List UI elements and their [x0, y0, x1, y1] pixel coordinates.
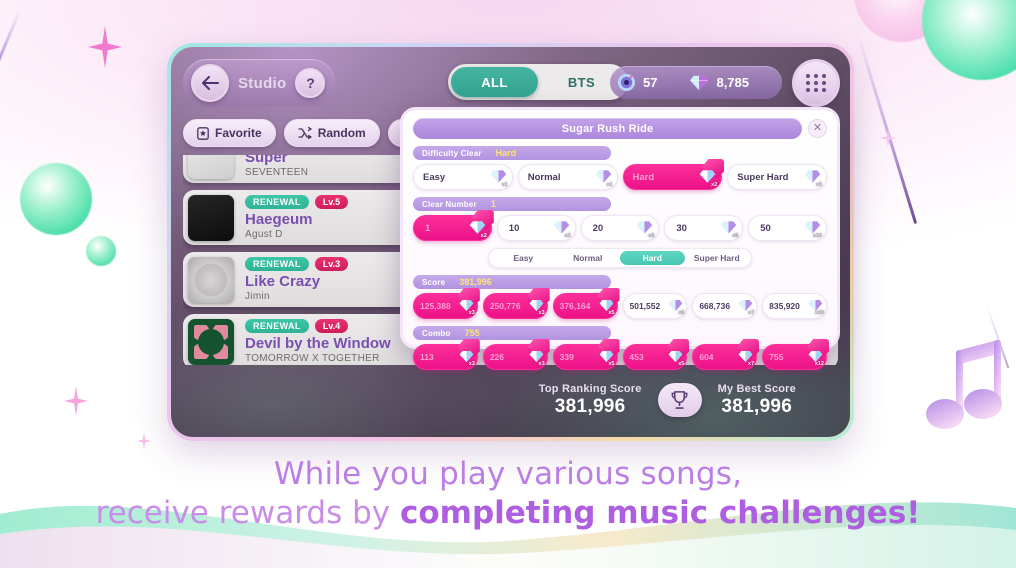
bookmark-star-icon [197, 127, 209, 140]
option-label: 339 [560, 352, 574, 362]
score-option-3[interactable]: 376,164 x5 [553, 293, 618, 319]
clear-number-option-1[interactable]: 1 x2 [413, 215, 492, 241]
gem-icon: x10 [804, 220, 821, 237]
filter-favorite-label: Favorite [215, 126, 262, 140]
multiplier-label: x3 [564, 233, 570, 239]
section-label: Combo [422, 329, 451, 338]
decorative-green-bubble-large [20, 163, 92, 235]
promo-headline-line2-plain: receive rewards by [96, 495, 400, 531]
combo-option-6[interactable]: 755 x12 [762, 344, 827, 370]
gem-icon: x5 [599, 350, 614, 365]
page-title: Studio [238, 75, 286, 92]
score-option-6[interactable]: 835,920 x10 [762, 293, 827, 319]
combo-option-4[interactable]: 453 x5 [623, 344, 688, 370]
difficulty-clear-options: Easy x1 Normal x1 Hard x2 Super Hard [413, 164, 827, 190]
difficulty-option-easy[interactable]: Easy x1 [413, 164, 513, 190]
sparkle-icon [880, 128, 896, 148]
decorative-streak [0, 9, 22, 89]
multiplier-label: x3 [539, 361, 545, 367]
gem-icon: x3 [459, 350, 474, 365]
promo-headline-line2: receive rewards by completing music chal… [0, 493, 1016, 533]
top-bar: Studio ? ALL BTS 57 [183, 59, 838, 107]
gem-icon: x10 [808, 299, 823, 314]
gem-icon: x3 [553, 220, 570, 237]
multiplier-label: x3 [539, 310, 545, 316]
promo-headline: While you play various songs, receive re… [0, 455, 1016, 533]
top-ranking-score-block: Top Ranking Score 381,996 [539, 383, 642, 418]
tab-all[interactable]: ALL [451, 67, 538, 97]
section-value: 381,996 [459, 277, 492, 287]
option-label: 226 [490, 352, 504, 362]
clear-number-options: 1 x2 10 x3 20 x5 30 x8 [413, 215, 827, 241]
score-option-2[interactable]: 250,776 x3 [483, 293, 548, 319]
section-value: Hard [496, 148, 517, 158]
option-label: 1 [425, 223, 430, 234]
multiplier-label: x10 [815, 310, 824, 316]
gem-icon [689, 75, 709, 91]
gem-icon: x5 [636, 220, 653, 237]
badge-renewal: RENEWAL [245, 257, 309, 271]
multiplier-label: x3 [816, 182, 822, 188]
album-cover [188, 155, 234, 179]
badge-renewal: RENEWAL [245, 195, 309, 209]
option-label: Super Hard [737, 172, 788, 183]
currency-disc-value: 57 [643, 75, 657, 90]
gem-icon: x5 [599, 299, 614, 314]
arrow-left-icon [202, 76, 219, 90]
help-button[interactable]: ? [295, 68, 325, 98]
clear-number-option-10[interactable]: 10 x3 [497, 215, 576, 241]
gem-icon: x7 [738, 350, 753, 365]
clear-number-option-50[interactable]: 50 x10 [748, 215, 827, 241]
gem-icon: x2 [699, 169, 716, 186]
option-label: 113 [420, 352, 434, 362]
album-cover [188, 319, 234, 365]
my-best-score-label: My Best Score [718, 383, 796, 395]
promo-headline-line1: While you play various songs, [0, 455, 1016, 493]
filter-random-label: Random [318, 126, 366, 140]
difficulty-option-super-hard[interactable]: Super Hard x3 [727, 164, 827, 190]
sparkle-icon [64, 386, 88, 416]
gem-icon: x12 [808, 350, 823, 365]
multiplier-label: x12 [815, 361, 824, 367]
multiplier-label: x5 [608, 310, 614, 316]
score-option-4[interactable]: 501,552 x5 [623, 293, 688, 319]
multiplier-label: x1 [606, 182, 612, 188]
multiplier-label: x2 [481, 233, 487, 239]
clear-number-option-20[interactable]: 20 x5 [581, 215, 660, 241]
option-label: 453 [630, 352, 644, 362]
multiplier-label: x1 [502, 182, 508, 188]
section-header-difficulty-clear: Difficulty Clear Hard [413, 146, 611, 160]
score-summary-bar: Top Ranking Score 381,996 My Best Score … [183, 371, 838, 429]
option-label: 835,920 [769, 301, 800, 311]
badge-level: Lv.4 [315, 319, 348, 333]
album-cover [188, 257, 234, 303]
section-header-score: Score 381,996 [413, 275, 611, 289]
trophy-icon [658, 383, 702, 417]
section-value: 755 [465, 328, 480, 338]
gem-icon: x3 [459, 299, 474, 314]
close-icon[interactable]: ✕ [808, 119, 827, 138]
score-option-1[interactable]: 125,388 x3 [413, 293, 478, 319]
album-cover [188, 195, 234, 241]
difficulty-tab-easy[interactable]: Easy [491, 251, 556, 265]
category-tabs: ALL BTS [448, 64, 628, 100]
multiplier-label: x8 [732, 233, 738, 239]
option-label: 250,776 [490, 301, 521, 311]
top-ranking-score-value: 381,996 [539, 396, 642, 418]
option-label: Hard [633, 172, 655, 183]
nav-group: Studio ? [183, 59, 335, 107]
option-label: 10 [509, 223, 520, 234]
filter-favorite-button[interactable]: Favorite [183, 119, 276, 147]
sparkle-icon [137, 432, 151, 450]
badge-renewal: RENEWAL [245, 319, 309, 333]
score-option-5[interactable]: 668,736 x7 [692, 293, 757, 319]
badge-level: Lv.3 [315, 257, 348, 271]
section-label: Difficulty Clear [422, 149, 482, 158]
multiplier-label: x5 [678, 310, 684, 316]
multiplier-label: x5 [608, 361, 614, 367]
disc-icon [617, 73, 636, 92]
section-label: Clear Number [422, 200, 477, 209]
my-best-score-block: My Best Score 381,996 [718, 383, 796, 418]
option-label: Normal [528, 172, 561, 183]
option-label: 125,388 [420, 301, 451, 311]
combo-option-3[interactable]: 339 x5 [553, 344, 618, 370]
currency-bar[interactable]: 57 8,785 [610, 66, 782, 99]
gem-icon: x3 [529, 350, 544, 365]
score-options: 125,388 x3 250,776 x3 376,164 x5 501,5 [413, 293, 827, 319]
dialog-header: Sugar Rush Ride ✕ [413, 118, 827, 139]
music-note-icon [926, 332, 1006, 450]
gem-icon: x3 [804, 169, 821, 186]
option-label: 50 [760, 223, 771, 234]
music-challenge-dialog: Sugar Rush Ride ✕ Difficulty Clear Hard … [400, 107, 840, 349]
promo-headline-line2-bold: completing music challenges! [400, 495, 920, 531]
multiplier-label: x7 [748, 310, 754, 316]
difficulty-option-normal[interactable]: Normal x1 [518, 164, 618, 190]
gem-icon: x5 [668, 299, 683, 314]
difficulty-tab-super-hard[interactable]: Super Hard [685, 251, 750, 265]
multiplier-label: x2 [711, 182, 717, 188]
option-label: 668,736 [699, 301, 730, 311]
multiplier-label: x3 [469, 310, 475, 316]
combo-option-2[interactable]: 226 x3 [483, 344, 548, 370]
option-label: 604 [699, 352, 713, 362]
top-ranking-score-label: Top Ranking Score [539, 383, 642, 395]
gem-icon: x2 [469, 220, 486, 237]
multiplier-label: x5 [678, 361, 684, 367]
clear-number-option-30[interactable]: 30 x8 [664, 215, 743, 241]
option-label: 20 [593, 223, 604, 234]
option-label: 30 [676, 223, 687, 234]
section-label: Score [422, 278, 445, 287]
my-best-score-value: 381,996 [718, 396, 796, 418]
dialog-title: Sugar Rush Ride [413, 118, 802, 139]
gem-icon: x1 [490, 169, 507, 186]
back-button[interactable] [191, 64, 229, 102]
multiplier-label: x5 [648, 233, 654, 239]
multiplier-label: x10 [813, 233, 822, 239]
difficulty-tab-hard[interactable]: Hard [620, 251, 685, 265]
option-label: 755 [769, 352, 783, 362]
difficulty-option-hard[interactable]: Hard x2 [623, 164, 723, 190]
badge-level: Lv.5 [315, 195, 348, 209]
option-label: 376,164 [560, 301, 591, 311]
section-value: 1 [491, 199, 496, 209]
multiplier-label: x3 [469, 361, 475, 367]
option-label: Easy [423, 172, 445, 183]
gem-icon: x8 [720, 220, 737, 237]
sparkle-icon [88, 26, 122, 68]
decorative-green-bubble-small [86, 236, 116, 266]
decorative-green-bubble-corner [922, 0, 1016, 80]
difficulty-filter-switch: Easy Normal Hard Super Hard [488, 248, 752, 268]
shuffle-icon [298, 127, 312, 139]
combo-options: 113 x3 226 x3 339 x5 453 [413, 344, 827, 370]
gem-icon: x7 [738, 299, 753, 314]
gem-icon: x5 [668, 350, 683, 365]
decorative-streak [856, 32, 917, 224]
gem-icon: x3 [529, 299, 544, 314]
combo-option-5[interactable]: 604 x7 [692, 344, 757, 370]
currency-gem-value: 8,785 [716, 75, 749, 90]
filter-random-button[interactable]: Random [284, 119, 380, 147]
option-label: 501,552 [630, 301, 661, 311]
grid-menu-icon[interactable] [792, 59, 840, 107]
gem-icon: x1 [595, 169, 612, 186]
section-header-clear-number: Clear Number 1 [413, 197, 611, 211]
combo-option-1[interactable]: 113 x3 [413, 344, 478, 370]
difficulty-tab-normal[interactable]: Normal [556, 251, 621, 265]
section-header-combo: Combo 755 [413, 326, 611, 340]
multiplier-label: x7 [748, 361, 754, 367]
